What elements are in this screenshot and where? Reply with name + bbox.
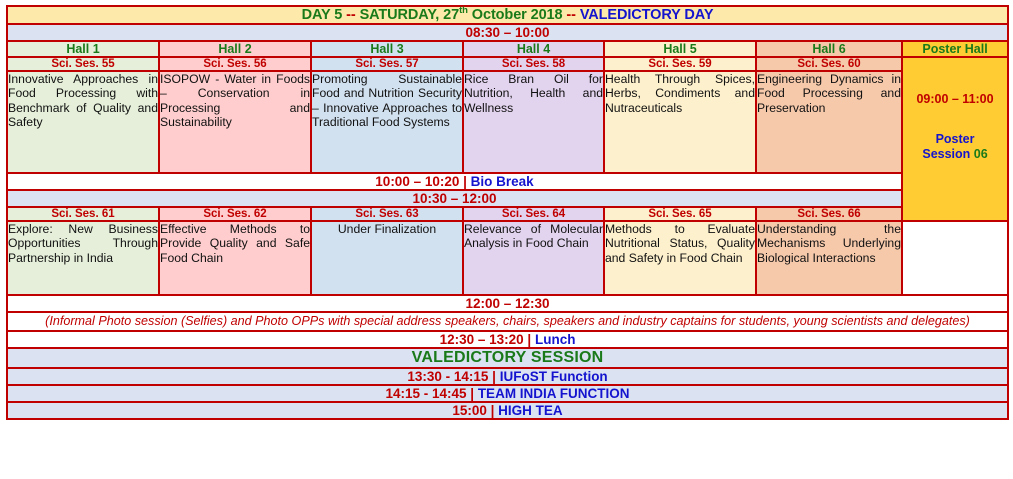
session-title-64: Relevance of Molecular Analysis in Food … [463, 221, 604, 295]
lunch-cell: 12:30 – 13:20 | Lunch [7, 331, 1008, 348]
title-tag: VALEDICTORY DAY [580, 7, 714, 23]
photo-time-row: 12:00 – 12:30 [7, 295, 1008, 312]
valedictory-item-high-tea: 15:00 | HIGH TEA [7, 402, 1008, 419]
session-code-65: Sci. Ses. 65 [604, 207, 756, 221]
poster-hall-cell: 09:00 – 11:00 Poster Session 06 [902, 57, 1008, 221]
valedictory-row-2: 14:15 - 14:45 | TEAM INDIA FUNCTION [7, 385, 1008, 402]
session-title-55: Innovative Approaches in Food Processing… [7, 71, 159, 173]
session-code-64: Sci. Ses. 64 [463, 207, 604, 221]
poster-label-line1: Poster [936, 132, 975, 146]
hall-header-row: Hall 1 Hall 2 Hall 3 Hall 4 Hall 5 Hall … [7, 41, 1008, 57]
session-code-61: Sci. Ses. 61 [7, 207, 159, 221]
poster-session-label: Poster Session 06 [903, 132, 1007, 162]
valedictory-row-1: 13:30 - 14:15 | IUFoST Function [7, 368, 1008, 385]
session-code-60: Sci. Ses. 60 [756, 57, 902, 71]
valedictory-label-3: HIGH TEA [498, 403, 563, 418]
valedictory-heading: VALEDICTORY SESSION [7, 348, 1008, 368]
valedictory-time-2: 14:15 - 14:45 [385, 386, 466, 401]
session-code-57: Sci. Ses. 57 [311, 57, 463, 71]
lunch-label: Lunch [535, 332, 576, 347]
title-day: DAY 5 [302, 7, 343, 23]
hall-header-poster: Poster Hall [902, 41, 1008, 57]
valedictory-day-schedule: DAY 5 -- SATURDAY, 27th October 2018 -- … [0, 0, 1013, 479]
valedictory-heading-row: VALEDICTORY SESSION [7, 348, 1008, 368]
valedictory-item-iufost: 13:30 - 14:15 | IUFoST Function [7, 368, 1008, 385]
session-title-57: Promoting Sustainable Food and Nutrition… [311, 71, 463, 173]
timeslot-late: 10:30 – 12:00 [7, 190, 902, 207]
title-date: SATURDAY, 27 [360, 7, 460, 23]
valedictory-time-1: 13:30 - 14:15 [407, 369, 488, 384]
bio-break-label: Bio Break [471, 174, 534, 189]
page-title: DAY 5 -- SATURDAY, 27th October 2018 -- … [7, 6, 1008, 24]
schedule-table: DAY 5 -- SATURDAY, 27th October 2018 -- … [6, 5, 1009, 420]
poster-time: 09:00 – 11:00 [903, 92, 1007, 106]
valedictory-row-3: 15:00 | HIGH TEA [7, 402, 1008, 419]
photo-note-row: (Informal Photo session (Selfies) and Ph… [7, 312, 1008, 331]
title-sep-2: -- [562, 7, 579, 23]
session-body-row-morning: Innovative Approaches in Food Processing… [7, 71, 1008, 173]
hall-header-6: Hall 6 [756, 41, 902, 57]
valedictory-divider-2: | [467, 386, 478, 401]
valedictory-label-1: IUFoST Function [500, 369, 608, 384]
session-body-row-late: Explore: New Business Opportunities Thro… [7, 221, 1008, 295]
valedictory-label-2: TEAM INDIA FUNCTION [478, 386, 630, 401]
session-title-56: ISOPOW - Water in Foods – Conservation i… [159, 71, 311, 173]
photo-session-note: (Informal Photo session (Selfies) and Ph… [7, 312, 1008, 331]
session-code-58: Sci. Ses. 58 [463, 57, 604, 71]
session-title-59: Health Through Spices, Herbs, Condiments… [604, 71, 756, 173]
hall-header-2: Hall 2 [159, 41, 311, 57]
hall-header-4: Hall 4 [463, 41, 604, 57]
timeslot-morning: 08:30 – 10:00 [7, 24, 1008, 41]
session-title-63: Under Finalization [311, 221, 463, 295]
bio-break-row: 10:00 – 10:20 | Bio Break [7, 173, 1008, 190]
title-date-ordinal: th [459, 5, 468, 16]
session-code-56: Sci. Ses. 56 [159, 57, 311, 71]
bio-break-cell: 10:00 – 10:20 | Bio Break [7, 173, 902, 190]
lunch-time: 12:30 – 13:20 [440, 332, 524, 347]
valedictory-item-team-india: 14:15 - 14:45 | TEAM INDIA FUNCTION [7, 385, 1008, 402]
session-code-59: Sci. Ses. 59 [604, 57, 756, 71]
valedictory-time-3: 15:00 [452, 403, 487, 418]
poster-spacer-top [903, 58, 1007, 92]
session-code-63: Sci. Ses. 63 [311, 207, 463, 221]
hall-header-5: Hall 5 [604, 41, 756, 57]
session-title-62: Effective Methods to Provide Quality and… [159, 221, 311, 295]
session-title-65: Methods to Evaluate Nutritional Status, … [604, 221, 756, 295]
photo-session-time: 12:00 – 12:30 [7, 295, 1008, 312]
hall-header-1: Hall 1 [7, 41, 159, 57]
title-sep-1: -- [342, 7, 359, 23]
session-title-66: Understanding the Mechanisms Underlying … [756, 221, 902, 295]
session-code-62: Sci. Ses. 62 [159, 207, 311, 221]
session-code-row-morning: Sci. Ses. 55 Sci. Ses. 56 Sci. Ses. 57 S… [7, 57, 1008, 71]
poster-label-line2: Session [922, 147, 970, 161]
session-code-66: Sci. Ses. 66 [756, 207, 902, 221]
poster-spacer-mid [903, 106, 1007, 132]
session-title-61: Explore: New Business Opportunities Thro… [7, 221, 159, 295]
session-title-60: Engineering Dynamics in Food Processing … [756, 71, 902, 173]
timeslot-row-morning: 08:30 – 10:00 [7, 24, 1008, 41]
lunch-row: 12:30 – 13:20 | Lunch [7, 331, 1008, 348]
session-code-55: Sci. Ses. 55 [7, 57, 159, 71]
photo-time-text: 12:00 – 12:30 [465, 296, 549, 311]
valedictory-divider-3: | [487, 403, 498, 418]
timeslot-row-late: 10:30 – 12:00 [7, 190, 1008, 207]
bio-break-divider: | [459, 174, 470, 189]
lunch-divider: | [524, 332, 535, 347]
bio-break-time: 10:00 – 10:20 [375, 174, 459, 189]
session-title-58: Rice Bran Oil for Nutrition, Health and … [463, 71, 604, 173]
poster-number: 06 [974, 147, 988, 161]
hall-header-3: Hall 3 [311, 41, 463, 57]
valedictory-divider-1: | [488, 369, 499, 384]
title-row: DAY 5 -- SATURDAY, 27th October 2018 -- … [7, 6, 1008, 24]
title-date-rest: October 2018 [468, 7, 563, 23]
session-code-row-late: Sci. Ses. 61 Sci. Ses. 62 Sci. Ses. 63 S… [7, 207, 1008, 221]
